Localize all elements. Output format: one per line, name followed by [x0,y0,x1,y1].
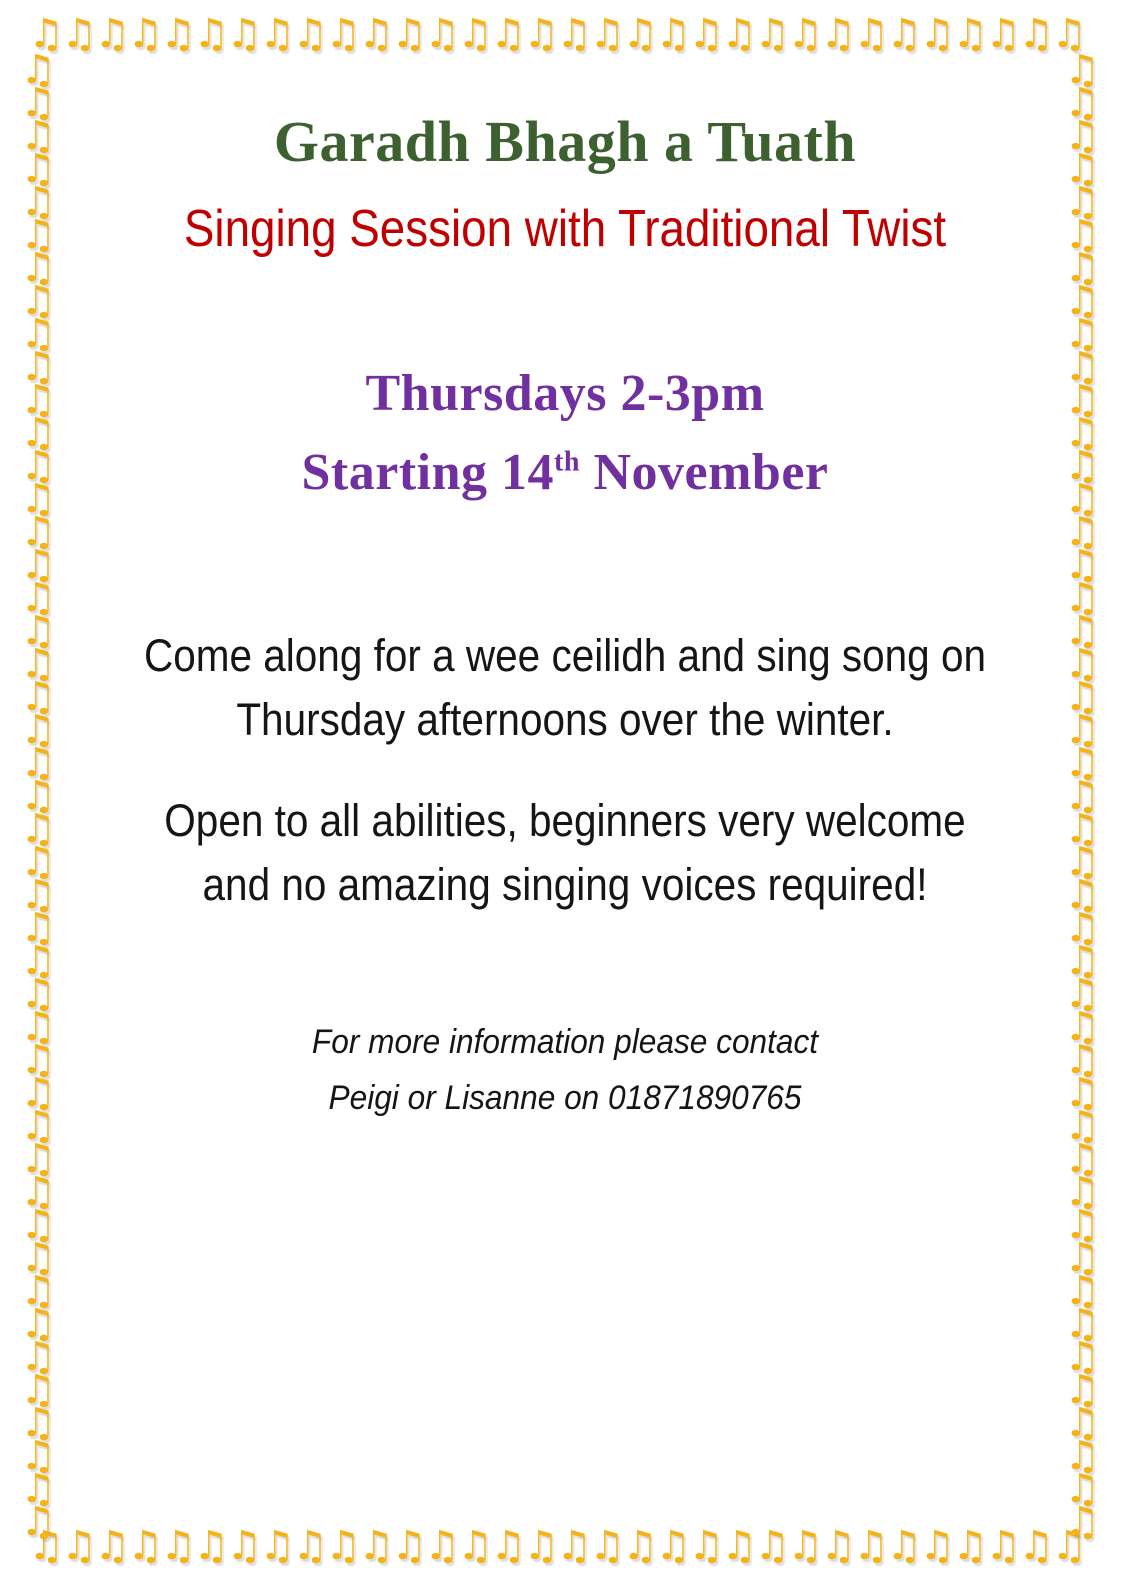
beamed-eighth-notes-icon: ♫ [18,1205,58,1245]
start-date-suffix: November [580,444,829,501]
contact-block: For more information please contact Peig… [114,918,1016,1127]
beamed-eighth-notes-icon: ♫ [18,281,58,321]
beamed-eighth-notes-icon: ♫ [18,677,58,717]
beamed-eighth-notes-icon: ♫ [1062,644,1102,684]
beamed-eighth-notes-icon: ♫ [18,380,58,420]
beamed-eighth-notes-icon: ♫ [1062,1304,1102,1344]
beamed-eighth-notes-icon: ♫ [1062,1139,1102,1179]
beamed-eighth-notes-icon: ♫ [18,1040,58,1080]
contact-line-1: For more information please contact [114,1014,1016,1070]
beamed-eighth-notes-icon: ♫ [26,14,66,54]
beamed-eighth-notes-icon: ♫ [1062,908,1102,948]
beamed-eighth-notes-icon: ♫ [1062,1172,1102,1212]
beamed-eighth-notes-icon: ♫ [18,743,58,783]
beamed-eighth-notes-icon: ♫ [1062,809,1102,849]
beamed-eighth-notes-icon: ♫ [18,149,58,189]
beamed-eighth-notes-icon: ♫ [18,182,58,222]
poster-subtitle: Singing Session with Traditional Twist [138,173,992,258]
beamed-eighth-notes-icon: ♫ [18,1304,58,1344]
beamed-eighth-notes-icon: ♫ [1062,116,1102,156]
body-paragraph-1: Come along for a wee ceilidh and sing so… [129,512,1002,753]
beamed-eighth-notes-icon: ♫ [18,479,58,519]
poster-content: Garadh Bhagh a Tuath Singing Session wit… [80,0,1050,1580]
beamed-eighth-notes-icon: ♫ [18,611,58,651]
poster-page: ♫♫♫♫♫♫♫♫♫♫♫♫♫♫♫♫♫♫♫♫♫♫♫♫♫♫♫♫♫♫♫♫ ♫♫♫♫♫♫♫… [0,0,1130,1580]
beamed-eighth-notes-icon: ♫ [1049,14,1089,54]
beamed-eighth-notes-icon: ♫ [1062,710,1102,750]
beamed-eighth-notes-icon: ♫ [18,1436,58,1476]
schedule-block: Thursdays 2-3pm Starting 14th November [80,258,1050,512]
beamed-eighth-notes-icon: ♫ [1062,842,1102,882]
beamed-eighth-notes-icon: ♫ [18,50,58,90]
body-paragraph-2: Open to all abilities, beginners very we… [129,753,1002,918]
beamed-eighth-notes-icon: ♫ [18,116,58,156]
beamed-eighth-notes-icon: ♫ [18,545,58,585]
beamed-eighth-notes-icon: ♫ [18,776,58,816]
beamed-eighth-notes-icon: ♫ [18,446,58,486]
beamed-eighth-notes-icon: ♫ [1062,776,1102,816]
beamed-eighth-notes-icon: ♫ [18,644,58,684]
beamed-eighth-notes-icon: ♫ [18,215,58,255]
beamed-eighth-notes-icon: ♫ [18,1172,58,1212]
beamed-eighth-notes-icon: ♫ [1062,413,1102,453]
border-right-notes: ♫♫♫♫♫♫♫♫♫♫♫♫♫♫♫♫♫♫♫♫♫♫♫♫♫♫♫♫♫♫♫♫♫♫♫♫♫♫♫♫… [1062,0,1108,1580]
beamed-eighth-notes-icon: ♫ [1062,1073,1102,1113]
beamed-eighth-notes-icon: ♫ [18,413,58,453]
beamed-eighth-notes-icon: ♫ [18,842,58,882]
beamed-eighth-notes-icon: ♫ [1062,677,1102,717]
beamed-eighth-notes-icon: ♫ [1062,182,1102,222]
beamed-eighth-notes-icon: ♫ [18,974,58,1014]
beamed-eighth-notes-icon: ♫ [1062,1007,1102,1047]
beamed-eighth-notes-icon: ♫ [1062,611,1102,651]
beamed-eighth-notes-icon: ♫ [18,1271,58,1311]
schedule-start-date-line: Starting 14th November [80,433,1050,512]
beamed-eighth-notes-icon: ♫ [1062,314,1102,354]
beamed-eighth-notes-icon: ♫ [1062,1271,1102,1311]
beamed-eighth-notes-icon: ♫ [18,1502,58,1542]
contact-line-2: Peigi or Lisanne on 01871890765 [114,1070,1016,1126]
beamed-eighth-notes-icon: ♫ [18,314,58,354]
beamed-eighth-notes-icon: ♫ [1062,1370,1102,1410]
beamed-eighth-notes-icon: ♫ [1062,1337,1102,1377]
beamed-eighth-notes-icon: ♫ [18,1370,58,1410]
beamed-eighth-notes-icon: ♫ [1062,743,1102,783]
beamed-eighth-notes-icon: ♫ [18,1007,58,1047]
beamed-eighth-notes-icon: ♫ [18,1073,58,1113]
beamed-eighth-notes-icon: ♫ [1062,1238,1102,1278]
beamed-eighth-notes-icon: ♫ [18,908,58,948]
beamed-eighth-notes-icon: ♫ [1062,545,1102,585]
beamed-eighth-notes-icon: ♫ [18,1139,58,1179]
beamed-eighth-notes-icon: ♫ [18,941,58,981]
beamed-eighth-notes-icon: ♫ [1062,512,1102,552]
border-left-notes: ♫♫♫♫♫♫♫♫♫♫♫♫♫♫♫♫♫♫♫♫♫♫♫♫♫♫♫♫♫♫♫♫♫♫♫♫♫♫♫♫… [18,0,64,1580]
beamed-eighth-notes-icon: ♫ [1062,875,1102,915]
beamed-eighth-notes-icon: ♫ [1062,446,1102,486]
beamed-eighth-notes-icon: ♫ [18,1403,58,1443]
start-date-ordinal: th [554,447,580,478]
beamed-eighth-notes-icon: ♫ [1062,974,1102,1014]
beamed-eighth-notes-icon: ♫ [1049,1526,1089,1566]
schedule-time-line: Thursdays 2-3pm [80,354,1050,433]
beamed-eighth-notes-icon: ♫ [1062,281,1102,321]
beamed-eighth-notes-icon: ♫ [1062,1436,1102,1476]
beamed-eighth-notes-icon: ♫ [18,1238,58,1278]
beamed-eighth-notes-icon: ♫ [1062,1403,1102,1443]
start-date-prefix: Starting 14 [302,444,555,501]
beamed-eighth-notes-icon: ♫ [18,809,58,849]
beamed-eighth-notes-icon: ♫ [18,1469,58,1509]
beamed-eighth-notes-icon: ♫ [18,875,58,915]
beamed-eighth-notes-icon: ♫ [18,1106,58,1146]
beamed-eighth-notes-icon: ♫ [18,578,58,618]
beamed-eighth-notes-icon: ♫ [18,83,58,123]
beamed-eighth-notes-icon: ♫ [1062,1502,1102,1542]
beamed-eighth-notes-icon: ♫ [1062,1469,1102,1509]
beamed-eighth-notes-icon: ♫ [1062,578,1102,618]
beamed-eighth-notes-icon: ♫ [18,248,58,288]
beamed-eighth-notes-icon: ♫ [1062,479,1102,519]
beamed-eighth-notes-icon: ♫ [26,1526,66,1566]
beamed-eighth-notes-icon: ♫ [1062,248,1102,288]
beamed-eighth-notes-icon: ♫ [18,1337,58,1377]
beamed-eighth-notes-icon: ♫ [1062,1205,1102,1245]
poster-title: Garadh Bhagh a Tuath [80,0,1050,173]
beamed-eighth-notes-icon: ♫ [1062,215,1102,255]
beamed-eighth-notes-icon: ♫ [1062,347,1102,387]
beamed-eighth-notes-icon: ♫ [1062,1040,1102,1080]
beamed-eighth-notes-icon: ♫ [18,512,58,552]
beamed-eighth-notes-icon: ♫ [18,710,58,750]
beamed-eighth-notes-icon: ♫ [1062,1106,1102,1146]
beamed-eighth-notes-icon: ♫ [1062,149,1102,189]
beamed-eighth-notes-icon: ♫ [18,347,58,387]
beamed-eighth-notes-icon: ♫ [1062,380,1102,420]
beamed-eighth-notes-icon: ♫ [1062,50,1102,90]
beamed-eighth-notes-icon: ♫ [1062,83,1102,123]
beamed-eighth-notes-icon: ♫ [1062,941,1102,981]
